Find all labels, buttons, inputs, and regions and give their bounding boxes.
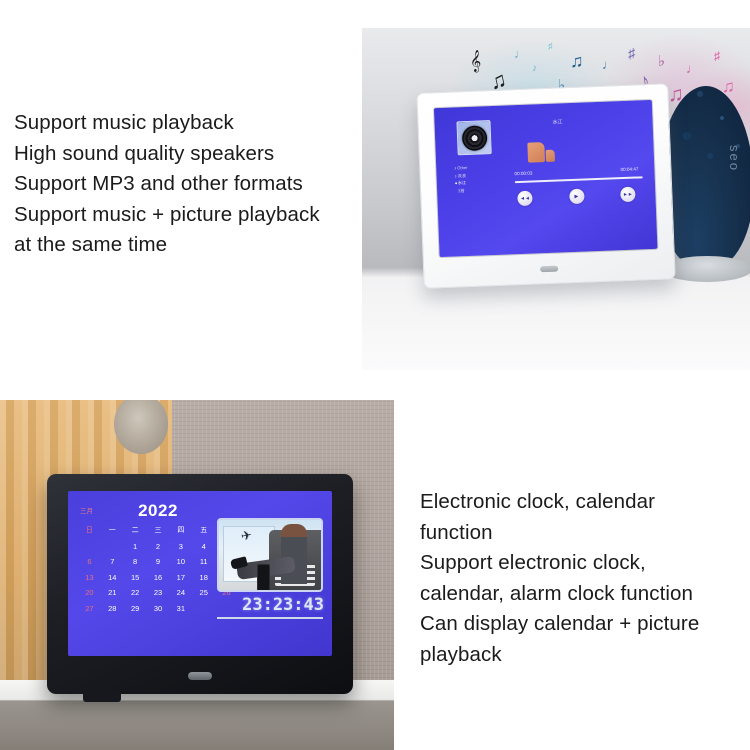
playlist-panel[interactable]: ♪Other ♪流浪 ●水江 3首 [454,164,469,195]
calendar-day: 29 [124,604,147,613]
calendar-clock-ui: 三月 2022 日 一 二 三 四 五 六 1 2 3 [68,491,332,656]
total-time: 00:04:47 [620,166,638,172]
music-note-icon: 𝄞 [470,52,481,71]
feature-line: Support electronic clock, [420,548,750,579]
calendar-day: 10 [169,557,192,566]
calendar-day: 31 [169,604,192,613]
feature-line: Support music playback [14,108,364,139]
calendar-day: 27 [78,604,101,613]
music-note-icon: ♫ [570,52,584,70]
weekday-header: 五 [192,525,215,535]
vinyl-record-icon [461,125,487,151]
music-note-icon: ♩ [514,48,526,60]
playlist-item-label: Other [457,165,468,170]
calendar-day: 3 [169,542,192,551]
elapsed-time: 00:00:03 [514,171,532,177]
calendar-grid: 日 一 二 三 四 五 六 1 2 3 4 5 6 [78,525,238,613]
music-note-icon: ♯ [548,42,553,51]
seated-traveler [281,524,307,584]
calendar-day: 1 [124,542,147,551]
playlist-count-label: 3首 [458,188,465,193]
calendar-day-today: 21 [101,588,124,597]
calendar-day: 11 [192,557,215,566]
track-artwork [527,140,558,165]
calendar-day: 28 [101,604,124,613]
feature-line: High sound quality speakers [14,139,364,170]
calendar-clock-product-photo: 三月 2022 日 一 二 三 四 五 六 1 2 3 [0,400,394,750]
feature-line: Support music + picture playback [14,200,364,231]
calendar-day: 13 [78,573,101,582]
ir-sensor-black-frame [188,672,212,680]
speaker-brand-label: seo [727,145,742,172]
progress-bar[interactable] [515,176,643,183]
calendar-day: 2 [147,542,170,551]
artwork-shape [527,142,545,163]
feature-line: calendar, alarm clock function [420,579,750,610]
calendar-day [78,542,101,551]
slideshow-photo-thumbnail: ✈ [217,518,323,592]
feature-line: playback [420,640,750,671]
next-button[interactable]: ►► [620,187,636,203]
calendar-day: 24 [169,588,192,597]
feature-line: Support MP3 and other formats [14,169,364,200]
music-note-icon: ♩ [686,62,699,75]
calendar-day: 25 [192,588,215,597]
playback-times: 00:00:03 00:04:47 [514,166,638,176]
calendar-day: 15 [124,573,147,582]
clock-underline [217,617,323,619]
feature-line: Can display calendar + picture [420,609,750,640]
music-note-icon: ♯ [714,50,720,62]
weekday-header: 二 [124,525,147,535]
playlist-item[interactable]: ♪Other [454,164,468,172]
weekday-header: 一 [101,525,124,535]
music-note-icon: ♯ [628,46,635,60]
music-playback-product-photo: 𝄞 ♫ ♩ ♪ ♯ ♭ ♫ ♪ ♩ ♫ ♯ ♪ ♭ ♫ ♩ ♪ ♯ ♫ ♪ ♩ … [362,28,750,370]
calendar-day [192,604,215,613]
top-feature-text-block: Support music playback High sound qualit… [14,108,364,261]
bottom-feature-text-block: Electronic clock, calendar function Supp… [420,487,750,670]
calendar-day: 16 [147,573,170,582]
calendar-day [101,542,124,551]
artwork-shape [546,150,555,162]
calendar-day: 17 [169,573,192,582]
album-art-thumbnail [456,120,491,155]
product-feature-page: Support music playback High sound qualit… [0,0,750,750]
calendar-day: 18 [192,573,215,582]
feature-line: Electronic clock, calendar [420,487,750,518]
calendar-day: 23 [147,588,170,597]
white-digital-photo-frame: ♪Other ♪流浪 ●水江 3首 水江 00:00:03 00:04:47 [416,83,675,289]
weekday-header: 三 [147,525,170,535]
calendar-day: 22 [124,588,147,597]
calendar-day: 7 [101,557,124,566]
calendar-day: 8 [124,557,147,566]
playlist-item-label: 流浪 [457,173,466,178]
frame-foot-black [83,690,121,702]
frame-screen-music: ♪Other ♪流浪 ●水江 3首 水江 00:00:03 00:04:47 [434,100,658,257]
calendar-day: 6 [78,557,101,566]
feature-line: function [420,518,750,549]
music-note-icon: ♩ [602,58,615,71]
calendar-day: 14 [101,573,124,582]
playlist-item-label: 水江 [458,180,467,185]
calendar-day: 9 [147,557,170,566]
music-player-ui: ♪Other ♪流浪 ●水江 3首 水江 00:00:03 00:04:47 [434,100,658,257]
previous-button[interactable]: ◄◄ [517,191,533,207]
weekday-header: 四 [169,525,192,535]
weekday-header: 日 [78,525,101,535]
foreground-device [257,564,270,592]
calendar-day: 4 [192,542,215,551]
calendar-day: 30 [147,604,170,613]
frame-screen-calendar: 三月 2022 日 一 二 三 四 五 六 1 2 3 [68,491,332,656]
play-button[interactable]: ▶ [569,189,585,205]
feature-line: at the same time [14,230,364,261]
music-note-icon: ♭ [658,54,665,69]
transport-controls: ◄◄ ▶ ►► [517,187,635,207]
digital-clock-display: 23:23:43 [216,595,324,615]
calendar-day: 20 [78,588,101,597]
playlist-count: 3首 [455,187,469,195]
black-digital-photo-frame: 三月 2022 日 一 二 三 四 五 六 1 2 3 [47,474,353,694]
now-playing-title: 水江 [552,118,562,125]
ir-sensor-white-frame [540,266,558,273]
music-note-icon: ♪ [532,64,537,74]
